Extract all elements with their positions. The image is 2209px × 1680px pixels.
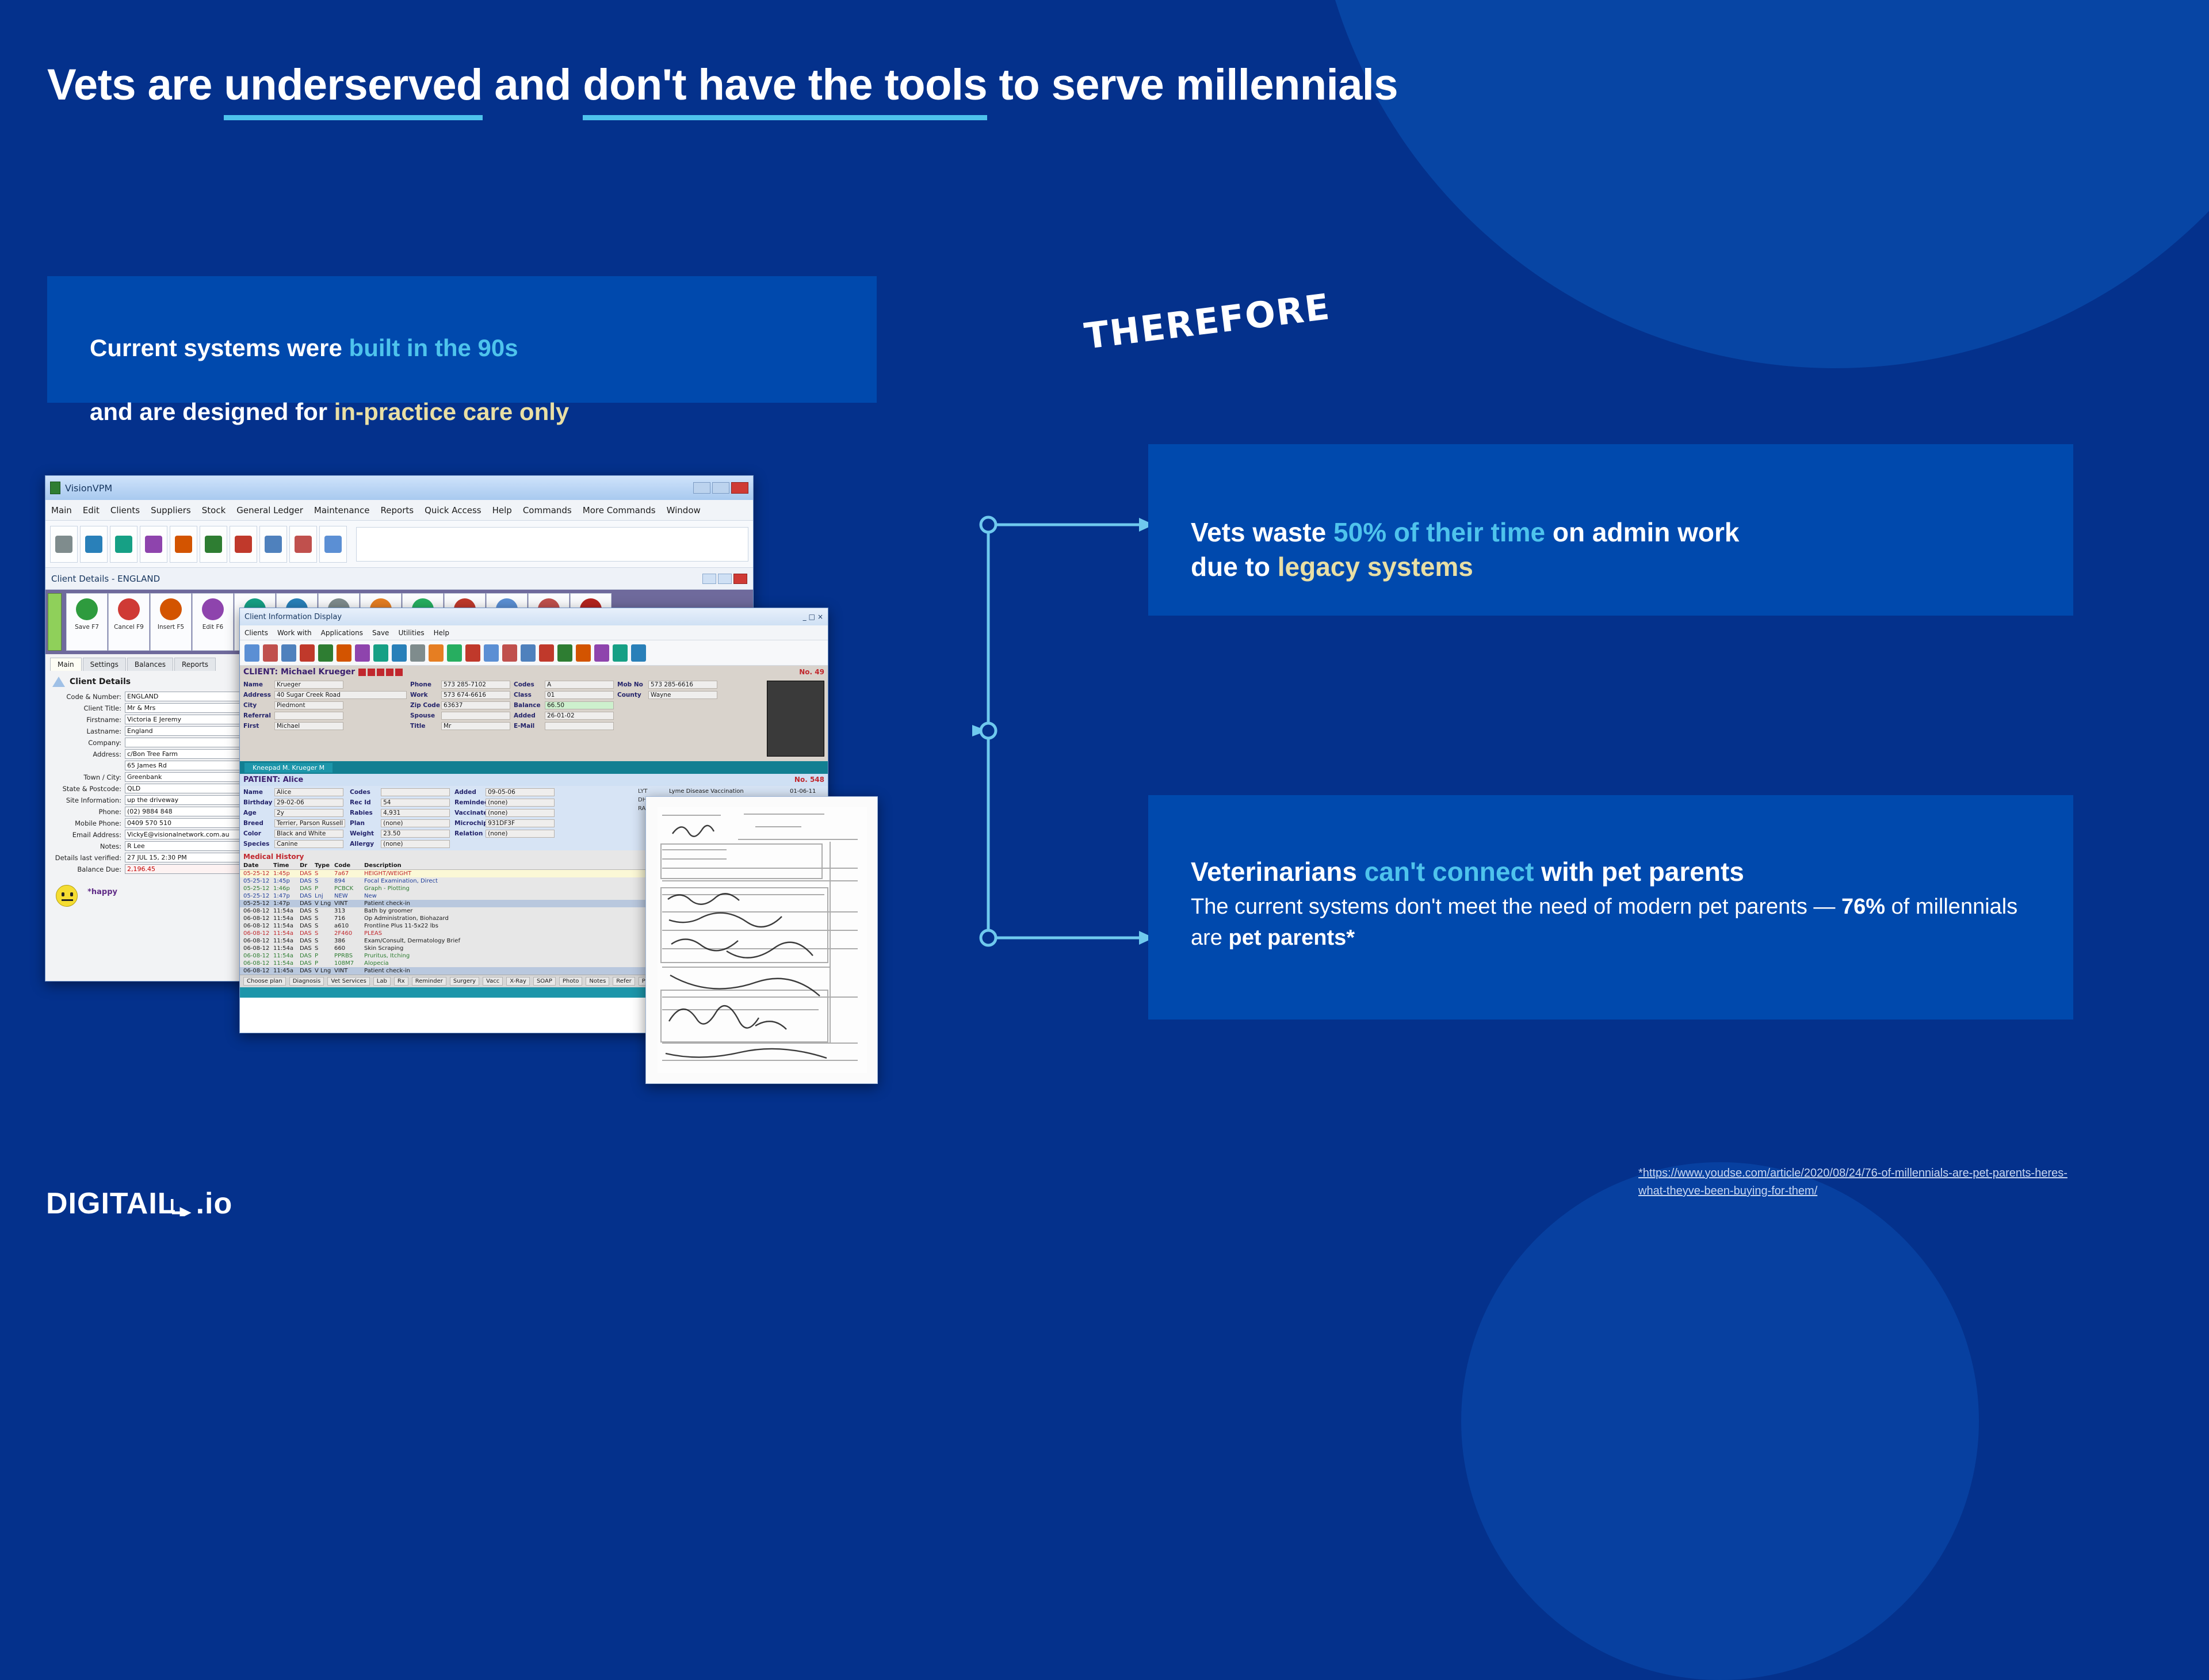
win1-menu-stock[interactable]: Stock <box>202 505 226 516</box>
field-label: Site Information: <box>50 796 125 804</box>
br-sub-bold: pet parents* <box>1228 926 1355 950</box>
client-field-value[interactable] <box>545 722 614 730</box>
action-button-edit-f6[interactable]: Edit F6 <box>192 593 234 651</box>
title-segment-2-underlined: underserved <box>224 60 483 120</box>
win2-toolbar-icon-1[interactable] <box>244 644 259 662</box>
patient-field: Relation(none) <box>454 830 555 838</box>
client-field-value[interactable]: 01 <box>545 691 614 699</box>
close-icon[interactable] <box>731 482 748 494</box>
drag-handle[interactable] <box>48 593 62 651</box>
win1-toolbar-icon-4[interactable] <box>230 526 257 563</box>
win2-toolbar-icon-10[interactable] <box>410 644 425 662</box>
vaccination-code: LYT <box>638 788 663 795</box>
client-field-key: Zip Code <box>410 702 441 709</box>
sub-close-icon[interactable] <box>733 574 747 584</box>
client-field-value[interactable] <box>441 712 510 720</box>
win2-toolbar-icon-7[interactable] <box>355 644 370 662</box>
client-field-value[interactable]: Michael <box>274 722 343 730</box>
patient-field-value[interactable]: 931DF3F <box>486 819 555 827</box>
mh-cell-c1: 05-25-12 <box>243 878 273 884</box>
mh-cell-c2: 1:47p <box>273 893 300 899</box>
title-segment-3: and <box>483 60 583 109</box>
win2-minimize-icon[interactable]: _ <box>803 613 807 621</box>
win1-menu-help[interactable]: Help <box>492 505 512 516</box>
mh-cell-c5: PPRBS <box>334 953 364 959</box>
win2-toolbar-icon-3[interactable] <box>281 644 296 662</box>
win2-menu-applications[interactable]: Applications <box>321 629 363 637</box>
mh-cell-c1: 05-25-12 <box>243 870 273 877</box>
win2-toolbar-icon-8[interactable] <box>373 644 388 662</box>
left-line1-highlight: built in the 90s <box>349 334 518 361</box>
win1-title-text: VisionVPM <box>65 483 112 494</box>
patient-field-value[interactable]: Alice <box>274 788 343 796</box>
win2-menu-help[interactable]: Help <box>434 629 449 637</box>
win2-menu-clients[interactable]: Clients <box>244 629 268 637</box>
client-field-key: Mob No <box>617 681 648 688</box>
patient-field-key: Allergy <box>350 841 381 847</box>
field-label: Balance Due: <box>50 865 125 873</box>
field-label: Lastname: <box>50 727 125 735</box>
client-field: E-Mail <box>514 722 614 730</box>
win1-toolbar-icon-9[interactable] <box>80 526 108 563</box>
patient-field-key: Rec Id <box>350 799 381 806</box>
win1-menu-suppliers[interactable]: Suppliers <box>151 505 191 516</box>
patient-field-key: Age <box>243 810 274 816</box>
win2-toolbar-icon-16[interactable] <box>521 644 536 662</box>
callout-cant-connect-subtext: The current systems don't meet the need … <box>1191 892 2042 954</box>
mh-cell-c1: 05-25-12 <box>243 900 273 907</box>
mh-cell-c1: 06-08-12 <box>243 930 273 937</box>
patient-field: Birthday29-02-06 <box>243 799 345 807</box>
client-field-key: Balance <box>514 702 545 709</box>
mh-cell-c1: 05-25-12 <box>243 885 273 892</box>
win1-toolbar-icon-3[interactable] <box>259 526 287 563</box>
patient-field-value[interactable]: 4,931 <box>381 809 450 817</box>
vaccination-date: 01-06-11 <box>790 788 824 795</box>
mh-cell-c3: DAS <box>300 945 315 952</box>
mh-cell-c5: 108M7 <box>334 960 364 967</box>
client-field-value[interactable]: 573 285-7102 <box>441 681 510 689</box>
footer-tab-diagnosis[interactable]: Diagnosis <box>289 977 324 986</box>
action-glyph-icon <box>202 598 224 620</box>
toolbar-glyph-icon <box>115 536 132 553</box>
field-label: Firstname: <box>50 716 125 724</box>
mh-cell-c4: S <box>315 938 334 944</box>
mh-cell-c3: DAS <box>300 893 315 899</box>
win1-toolbar-icon-2[interactable] <box>289 526 317 563</box>
mh-cell-c4: P <box>315 953 334 959</box>
patient-field: Codes <box>350 788 450 796</box>
win1-toolbar-icon-1[interactable] <box>319 526 347 563</box>
win2-toolbar-icon-11[interactable] <box>429 644 444 662</box>
client-record-title: CLIENT: Michael Krueger <box>243 667 355 677</box>
callout-vets-waste-time-text: Vets waste 50% of their time on admin wo… <box>1191 480 1740 585</box>
client-field-value[interactable]: Mr <box>441 722 510 730</box>
win2-toolbar-icon-22[interactable] <box>631 644 646 662</box>
client-field-key: County <box>617 692 648 698</box>
win2-toolbar-icon-4[interactable] <box>300 644 315 662</box>
patient-field-key: Microchip <box>454 820 486 827</box>
patient-field-col-1: NameAliceBirthday29-02-06Age2yBreedTerri… <box>243 788 345 848</box>
win1-menu-clients[interactable]: Clients <box>110 505 140 516</box>
patient-field: Age2y <box>243 809 345 817</box>
win2-toolbar-icon-21[interactable] <box>613 644 628 662</box>
footer-tab-refer[interactable]: Refer <box>613 977 635 986</box>
win1-menubar: MainEditClientsSuppliersStockGeneral Led… <box>45 500 753 521</box>
client-field-value[interactable] <box>274 712 343 720</box>
client-field-key: First <box>243 723 274 730</box>
win2-toolbar <box>240 640 828 666</box>
client-icon <box>52 677 65 687</box>
patient-field: NameAlice <box>243 788 345 796</box>
br-sub-pre: The current systems don't meet the need … <box>1191 895 1841 919</box>
win1-menu-window[interactable]: Window <box>667 505 701 516</box>
patient-field-value[interactable]: (none) <box>486 799 555 807</box>
mh-cell-c1: 06-08-12 <box>243 960 273 967</box>
callout-vets-waste-time: Vets waste 50% of their time on admin wo… <box>1148 444 2073 616</box>
callout-cant-connect: Veterinarians can't connect with pet par… <box>1148 795 2073 1020</box>
win1-subwindow-controls <box>702 574 747 584</box>
client-field-key: Class <box>514 692 545 698</box>
win2-menu-save[interactable]: Save <box>372 629 389 637</box>
mh-cell-c2: 1:45p <box>273 878 300 884</box>
client-field: Zip Code63637 <box>410 701 510 709</box>
patient-field-value[interactable]: 54 <box>381 799 450 807</box>
patient-record-title: PATIENT: Alice <box>243 776 303 784</box>
client-field-key: Added <box>514 712 545 719</box>
toolbar-glyph-icon <box>205 536 222 553</box>
client-field: Referral <box>243 712 407 720</box>
footer-tab-vacc[interactable]: Vacc <box>483 977 503 986</box>
win2-toolbar-icon-6[interactable] <box>337 644 351 662</box>
win2-toolbar-icon-15[interactable] <box>502 644 517 662</box>
win2-toolbar-icon-13[interactable] <box>465 644 480 662</box>
client-field: FirstMichael <box>243 722 407 730</box>
digitail-logo: DIGITAIL .io <box>46 1186 232 1221</box>
win1-toolbar-icon-6[interactable] <box>170 526 197 563</box>
scanned-form-content <box>658 807 867 1073</box>
win1-menu-maintenance[interactable]: Maintenance <box>314 505 370 516</box>
toolbar-glyph-icon <box>295 536 312 553</box>
client-field: Class01 <box>514 691 614 699</box>
win2-toolbar-icon-17[interactable] <box>539 644 554 662</box>
client-field-value[interactable]: A <box>545 681 614 689</box>
client-field: Added26-01-02 <box>514 712 614 720</box>
client-field: CountyWayne <box>617 691 717 699</box>
patient-record-number: No. 548 <box>794 776 824 784</box>
win2-toolbar-icon-12[interactable] <box>447 644 462 662</box>
mh-cell-c3: DAS <box>300 923 315 929</box>
patient-field-value[interactable]: (none) <box>486 809 555 817</box>
patient-record-header: PATIENT: Alice No. 548 <box>240 774 828 786</box>
patient-field: Plan(none) <box>350 819 450 827</box>
patient-field-value[interactable]: Canine <box>274 840 343 848</box>
footnote-source-link[interactable]: *https://www.youdse.com/article/2020/08/… <box>1638 1164 2076 1200</box>
minimize-icon[interactable] <box>693 482 710 494</box>
mh-cell-c4: S <box>315 870 334 877</box>
mh-cell-c4: S <box>315 945 334 952</box>
client-details-label: Client Details <box>70 677 131 686</box>
callout-current-systems: Current systems were built in the 90s an… <box>47 276 877 403</box>
win1-menu-general-ledger[interactable]: General Ledger <box>236 505 303 516</box>
left-line2-pre: and are designed for <box>90 398 334 425</box>
mh-col-type: Type <box>315 862 334 869</box>
win2-menu-utilities[interactable]: Utilities <box>398 629 424 637</box>
toolbar-glyph-icon <box>324 536 342 553</box>
footer-tab-x-ray[interactable]: X-Ray <box>506 977 530 986</box>
mh-cell-c3: DAS <box>300 960 315 967</box>
win1-menu-commands[interactable]: Commands <box>523 505 572 516</box>
mh-cell-c5: 386 <box>334 938 364 944</box>
field-label: Email Address: <box>50 831 125 839</box>
client-field-value[interactable]: 573 674-6616 <box>441 691 510 699</box>
client-field-value[interactable]: 40 Sugar Creek Road <box>274 691 407 699</box>
tr-highlight-50: 50% of their time <box>1333 517 1545 547</box>
patient-photo <box>767 681 824 757</box>
win2-toolbar-icon-14[interactable] <box>484 644 499 662</box>
mh-cell-c2: 11:45a <box>273 968 300 974</box>
br-headline-pre: Veterinarians <box>1191 857 1365 887</box>
mh-col-time: Time <box>273 862 300 869</box>
win2-toolbar-icon-5[interactable] <box>318 644 333 662</box>
mh-cell-c4: P <box>315 885 334 892</box>
field-label: Phone: <box>50 808 125 816</box>
tab-balances[interactable]: Balances <box>127 658 173 671</box>
mh-cell-c3: DAS <box>300 908 315 914</box>
smiley-icon <box>56 885 78 907</box>
win2-close-icon[interactable]: × <box>817 613 823 621</box>
win1-toolbar-icon-5[interactable] <box>200 526 227 563</box>
client-field-col-1: NameKruegerAddress40 Sugar Creek RoadCit… <box>243 681 407 757</box>
client-field: Mob No573 285-6616 <box>617 681 717 689</box>
patient-tab[interactable]: Kneepad M. Krueger M <box>244 763 333 773</box>
left-line1-pre: Current systems were <box>90 334 349 361</box>
mh-cell-c4: S <box>315 923 334 929</box>
win1-menu-reports[interactable]: Reports <box>381 505 414 516</box>
patient-field: Vaccinated(none) <box>454 809 555 817</box>
client-field-key: Title <box>410 723 441 730</box>
footer-tab-rx[interactable]: Rx <box>394 977 408 986</box>
mh-cell-c3: DAS <box>300 938 315 944</box>
mh-cell-c5: 313 <box>334 908 364 914</box>
mh-col-date: Date <box>243 862 273 869</box>
mh-cell-c5: 894 <box>334 878 364 884</box>
win1-menu-more-commands[interactable]: More Commands <box>583 505 656 516</box>
toolbar-glyph-icon <box>145 536 162 553</box>
callout-cant-connect-headline: Veterinarians can't connect with pet par… <box>1191 819 1744 889</box>
client-field-col-3: CodesAClass01Balance66.50Added26-01-02E-… <box>514 681 614 757</box>
therefore-label: THEREFORE <box>1082 285 1332 357</box>
patient-field: Rabies4,931 <box>350 809 450 817</box>
sub-maximize-icon[interactable] <box>718 574 732 584</box>
client-field-value[interactable]: Piedmont <box>274 701 343 709</box>
patient-field-value[interactable]: (none) <box>381 840 450 848</box>
patient-field: Microchip931DF3F <box>454 819 555 827</box>
client-field-key: E-Mail <box>514 723 545 730</box>
patient-field-key: Color <box>243 830 274 837</box>
footer-tab-vet-services[interactable]: Vet Services <box>327 977 369 986</box>
patient-field-value[interactable]: 29-02-06 <box>274 799 343 807</box>
patient-field: Weight23.50 <box>350 830 450 838</box>
win1-toolbar-icon-8[interactable] <box>110 526 137 563</box>
client-field-key: Spouse <box>410 712 441 719</box>
client-field-key: City <box>243 702 274 709</box>
win1-toolbar-icon-7[interactable] <box>140 526 167 563</box>
patient-field-value[interactable]: (none) <box>486 830 555 838</box>
win2-window-controls: _ □ × <box>803 613 823 621</box>
client-field-value[interactable]: 26-01-02 <box>545 712 614 720</box>
mh-cell-c3: DAS <box>300 885 315 892</box>
patient-field-value[interactable] <box>381 788 450 796</box>
client-field: Phone573 285-7102 <box>410 681 510 689</box>
win2-menu-work-with[interactable]: Work with <box>277 629 312 637</box>
mh-cell-c3: DAS <box>300 878 315 884</box>
screenshot-scanned-paper-form <box>645 796 878 1084</box>
client-record-fields: NameKruegerAddress40 Sugar Creek RoadCit… <box>240 678 828 761</box>
mh-cell-c4: S <box>315 908 334 914</box>
mh-cell-c2: 11:54a <box>273 953 300 959</box>
maximize-icon[interactable] <box>712 482 729 494</box>
toolbar-glyph-icon <box>175 536 192 553</box>
footer-tab-lab[interactable]: Lab <box>373 977 391 986</box>
client-field-value[interactable]: Wayne <box>648 691 717 699</box>
footer-tab-photo[interactable]: Photo <box>559 977 583 986</box>
client-field-key: Work <box>410 692 441 698</box>
client-field-value[interactable]: 63637 <box>441 701 510 709</box>
footer-tab-notes[interactable]: Notes <box>586 977 609 986</box>
win1-menu-edit[interactable]: Edit <box>83 505 100 516</box>
mh-cell-c2: 11:54a <box>273 945 300 952</box>
client-field-value[interactable]: 573 285-6616 <box>648 681 717 689</box>
client-field-value[interactable]: Krueger <box>274 681 343 689</box>
action-button-save-f7[interactable]: Save F7 <box>66 593 108 651</box>
patient-field-key: Birthday <box>243 799 274 806</box>
client-field: Balance66.50 <box>514 701 614 709</box>
mh-cell-c1: 06-08-12 <box>243 945 273 952</box>
footer-tab-soap[interactable]: SOAP <box>533 977 556 986</box>
client-field: CityPiedmont <box>243 701 407 709</box>
mh-cell-c4: P <box>315 960 334 967</box>
win1-subwindow-title: Client Details - ENGLAND <box>51 574 160 584</box>
patient-field-value[interactable]: 09-05-06 <box>486 788 555 796</box>
mh-cell-c3: DAS <box>300 968 315 974</box>
win1-menu-quick-access[interactable]: Quick Access <box>425 505 481 516</box>
logo-wordmark: DIGITAIL <box>46 1186 177 1221</box>
field-label: Address: <box>50 750 125 758</box>
client-field-col-4: Mob No573 285-6616CountyWayne <box>617 681 717 757</box>
vaccination-row: LYTLyme Disease Vaccination01-06-11 <box>638 788 824 795</box>
client-record-number: No. 49 <box>799 668 824 676</box>
client-field: CodesA <box>514 681 614 689</box>
footer-tab-reminder[interactable]: Reminder <box>412 977 446 986</box>
mh-cell-c2: 1:46p <box>273 885 300 892</box>
patient-field-value[interactable]: (none) <box>381 819 450 827</box>
patient-field-key: Reminded <box>454 799 486 806</box>
title-segment-4-underlined: don't have the tools <box>583 60 987 120</box>
client-field: Address40 Sugar Creek Road <box>243 691 407 699</box>
mh-cell-c4: V Lng <box>315 900 334 907</box>
win2-toolbar-icon-19[interactable] <box>576 644 591 662</box>
mh-cell-c3: DAS <box>300 953 315 959</box>
client-field-key: Codes <box>514 681 545 688</box>
mh-cell-c4: S <box>315 915 334 922</box>
patient-field-key: Added <box>454 789 486 796</box>
mh-cell-c2: 1:47p <box>273 900 300 907</box>
mh-cell-c3: DAS <box>300 915 315 922</box>
win2-title-text: Client Information Display <box>244 613 342 621</box>
client-status-label: *happy <box>87 888 117 896</box>
mh-cell-c5: 7a67 <box>334 870 364 877</box>
patient-field-key: Plan <box>350 820 381 827</box>
mh-cell-c5: NEW <box>334 893 364 899</box>
patient-field: Reminded(none) <box>454 799 555 807</box>
footer-tab-surgery[interactable]: Surgery <box>450 977 479 986</box>
action-button-insert-f5[interactable]: Insert F5 <box>150 593 192 651</box>
tr-pre: Vets waste <box>1191 517 1333 547</box>
tab-reports[interactable]: Reports <box>174 658 216 671</box>
win1-toolbar-search[interactable] <box>356 527 748 562</box>
mh-cell-c1: 06-08-12 <box>243 968 273 974</box>
client-field-value[interactable]: 66.50 <box>545 701 614 709</box>
mh-cell-c5: VINT <box>334 900 364 907</box>
patient-field: SpeciesCanine <box>243 840 345 848</box>
sub-minimize-icon[interactable] <box>702 574 716 584</box>
br-headline-post: with pet parents <box>1534 857 1744 887</box>
left-line2-highlight: in-practice care only <box>334 398 570 425</box>
mh-cell-c1: 06-08-12 <box>243 908 273 914</box>
win2-toolbar-icon-20[interactable] <box>594 644 609 662</box>
win2-toolbar-icon-9[interactable] <box>392 644 407 662</box>
mh-cell-c5: PCBCK <box>334 885 364 892</box>
vaccination-name: Lyme Disease Vaccination <box>669 788 784 795</box>
win1-toolbar-icon-10[interactable] <box>50 526 78 563</box>
toolbar-glyph-icon <box>55 536 72 553</box>
mh-cell-c1: 06-08-12 <box>243 923 273 929</box>
field-label: Town / City: <box>50 773 125 781</box>
field-label: Notes: <box>50 842 125 850</box>
footer-tab-choose-plan[interactable]: Choose plan <box>243 977 286 986</box>
patient-field-key: Codes <box>350 789 381 796</box>
mh-cell-c1: 06-08-12 <box>243 915 273 922</box>
patient-field-value[interactable]: 2y <box>274 809 343 817</box>
win2-toolbar-icon-2[interactable] <box>263 644 278 662</box>
action-button-cancel-f9[interactable]: Cancel F9 <box>108 593 150 651</box>
win1-menu-main[interactable]: Main <box>51 505 72 516</box>
mh-cell-c5: 2F460 <box>334 930 364 937</box>
patient-field-value[interactable]: Terrier, Parson Russell <box>274 819 345 827</box>
client-field-key: Address <box>243 692 274 698</box>
mh-col-code: Code <box>334 862 364 869</box>
br-sub-highlight-76: 76% <box>1841 895 1885 919</box>
tab-main[interactable]: Main <box>50 658 82 671</box>
page-title: Vets are underserved and don't have the … <box>47 60 1398 110</box>
patient-field: Rec Id54 <box>350 799 450 807</box>
title-segment-1: Vets are <box>47 60 224 109</box>
patient-field-value[interactable]: 23.50 <box>381 830 450 838</box>
action-glyph-icon <box>76 598 98 620</box>
tab-settings[interactable]: Settings <box>83 658 126 671</box>
background-arc-top-right <box>1312 0 2209 368</box>
win2-maximize-icon[interactable]: □ <box>809 613 815 621</box>
action-button-label: Insert F5 <box>158 624 184 631</box>
patient-field: Added09-05-06 <box>454 788 555 796</box>
patient-field-value[interactable]: Black and White <box>274 830 343 838</box>
win2-toolbar-icon-18[interactable] <box>557 644 572 662</box>
patient-field-key: Vaccinated <box>454 810 486 816</box>
action-glyph-icon <box>160 598 182 620</box>
win1-subwindow-titlebar: Client Details - ENGLAND <box>45 568 753 590</box>
mh-col-dr: Dr <box>300 862 315 869</box>
